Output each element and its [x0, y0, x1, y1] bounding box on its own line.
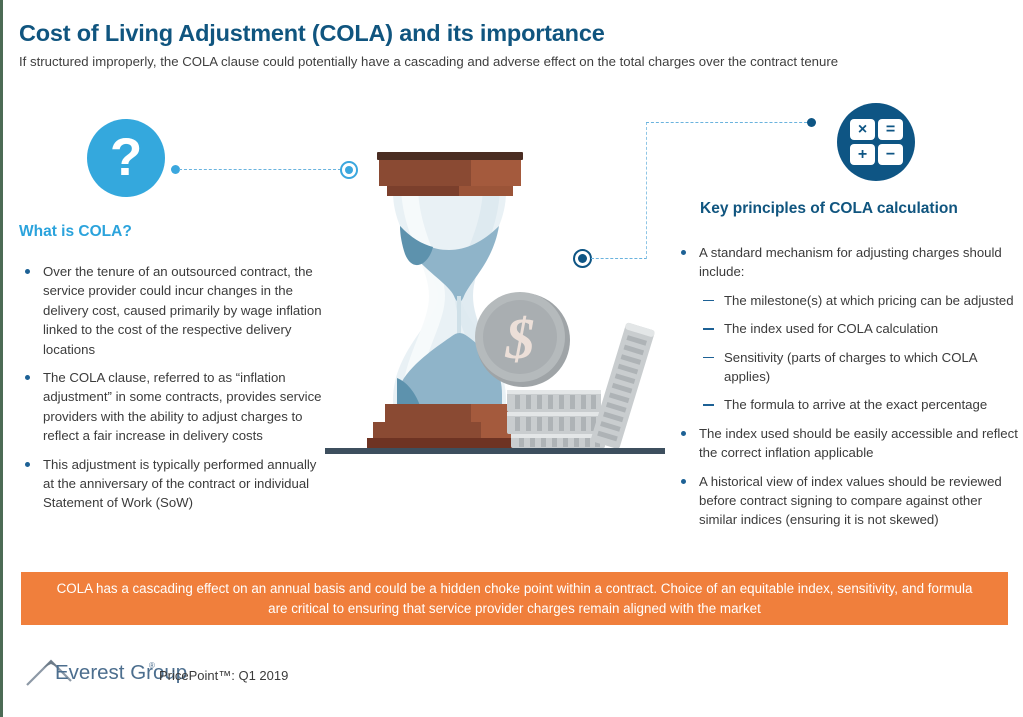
calculator-key-plus: +: [850, 144, 875, 165]
sub-list-item: The milestone(s) at which pricing can be…: [699, 291, 1023, 310]
right-section-heading: Key principles of COLA calculation: [700, 200, 958, 218]
page-subtitle: If structured improperly, the COLA claus…: [19, 54, 838, 69]
list-item: The COLA clause, referred to as “inflati…: [19, 368, 331, 446]
left-section-heading: What is COLA?: [19, 223, 132, 241]
connector-dot-right: [807, 118, 816, 127]
sub-list-item: The formula to arrive at the exact perce…: [699, 395, 1023, 414]
left-bullet-list: Over the tenure of an outsourced contrac…: [19, 262, 331, 522]
connector-ring-hourglass-right: [573, 249, 592, 268]
hourglass-with-coins-illustration: $: [321, 132, 669, 460]
slide-canvas: Cost of Living Adjustment (COLA) and its…: [0, 0, 1023, 717]
footer-note: PricePoint™: Q1 2019: [159, 668, 288, 683]
question-mark-glyph: ?: [87, 119, 165, 197]
list-item: The index used should be easily accessib…: [675, 424, 1023, 463]
calculator-icon: × = + −: [837, 103, 915, 181]
right-bullet-list: A standard mechanism for adjusting charg…: [675, 243, 1023, 539]
connector-line-right-vertical: [646, 122, 647, 259]
list-item: This adjustment is typically performed a…: [19, 455, 331, 513]
calculator-key-equals: =: [878, 119, 903, 140]
sub-list-item: The index used for COLA calculation: [699, 319, 1023, 338]
question-mark-icon: ?: [87, 119, 165, 197]
calculator-key-multiply: ×: [850, 119, 875, 140]
svg-text:$: $: [505, 306, 535, 371]
calculator-key-minus: −: [878, 144, 903, 165]
registered-trademark-mark: ®: [149, 661, 155, 670]
sub-list-item: Sensitivity (parts of charges to which C…: [699, 348, 1023, 387]
key-takeaway-banner: COLA has a cascading effect on an annual…: [21, 572, 1008, 625]
connector-line-left: [179, 169, 341, 170]
connector-line-right-upper: [646, 122, 812, 123]
list-item: Over the tenure of an outsourced contrac…: [19, 262, 331, 359]
page-title: Cost of Living Adjustment (COLA) and its…: [19, 20, 605, 47]
connector-line-right-lower: [591, 258, 647, 259]
list-item: A standard mechanism for adjusting charg…: [675, 243, 1023, 282]
list-item: A historical view of index values should…: [675, 472, 1023, 530]
